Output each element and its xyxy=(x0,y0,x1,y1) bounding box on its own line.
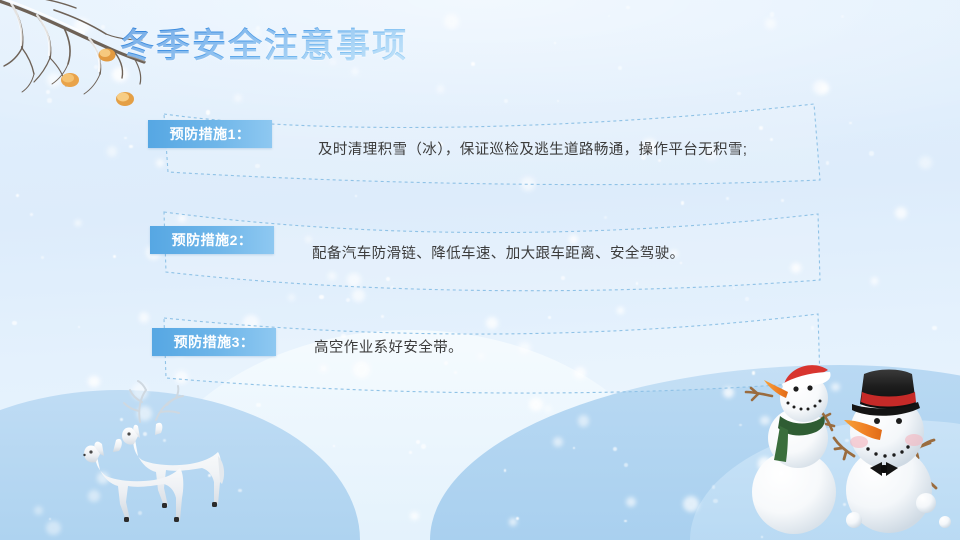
snow-speck xyxy=(16,194,19,197)
snow-speck xyxy=(613,447,617,451)
hill-left xyxy=(0,390,360,540)
snow-speck xyxy=(516,517,519,520)
snow-speck xyxy=(471,62,475,66)
snow-speck xyxy=(745,297,749,301)
snow-speck xyxy=(784,466,789,471)
snow-speck xyxy=(78,326,80,328)
snow-speck xyxy=(421,444,426,449)
page-title: 冬季安全注意事项 xyxy=(120,24,408,68)
snow-speck xyxy=(41,256,45,260)
snowman-right xyxy=(834,370,951,534)
snow-speck xyxy=(444,14,459,29)
snow-speck xyxy=(895,207,907,219)
snow-speck xyxy=(770,12,774,16)
snow-speck xyxy=(726,197,729,200)
snow-speck xyxy=(509,518,517,526)
snow-speck xyxy=(120,418,123,421)
snow-speck xyxy=(346,298,350,302)
snow-speck xyxy=(46,90,50,94)
snow-speck xyxy=(129,145,133,149)
snow-speck xyxy=(88,376,99,387)
snow-speck xyxy=(843,503,846,506)
snow-speck xyxy=(826,161,830,165)
snow-speck xyxy=(112,67,128,83)
snow-speck xyxy=(626,6,630,10)
snow-speck xyxy=(813,80,828,95)
snow-speck xyxy=(74,18,91,35)
snow-speck xyxy=(12,321,17,326)
snow-speck xyxy=(47,73,61,87)
snow-speck xyxy=(137,406,152,421)
snow-speck xyxy=(871,277,879,285)
snow-speck xyxy=(319,295,324,300)
stag xyxy=(122,381,224,508)
snow-speck xyxy=(238,489,241,492)
snow-speck xyxy=(909,438,913,442)
snow-speck xyxy=(437,85,444,92)
snow-speck xyxy=(819,84,828,93)
snow-speck xyxy=(288,294,295,301)
snow-speck xyxy=(107,146,117,156)
measure-label-1: 预防措施1： xyxy=(148,120,272,148)
snow-speck xyxy=(409,451,413,455)
snow-speck xyxy=(355,195,357,197)
snow-speck xyxy=(132,383,149,400)
snow-speck xyxy=(578,415,589,426)
snow-speck xyxy=(624,463,628,467)
doe xyxy=(83,439,183,522)
snow-speck xyxy=(932,326,937,331)
snow-speck xyxy=(124,137,127,140)
snow-speck xyxy=(504,469,507,472)
snow-speck xyxy=(739,424,741,426)
snow-speck xyxy=(138,511,142,515)
snow-speck xyxy=(683,496,699,512)
snow-speck xyxy=(794,431,805,442)
snow-speck xyxy=(34,506,43,515)
snow-speck xyxy=(849,122,852,125)
snow-speck xyxy=(841,15,844,18)
snow-speck xyxy=(845,439,848,442)
snow-speck xyxy=(94,65,98,69)
snow-speck xyxy=(761,536,763,538)
snow-speck xyxy=(608,15,610,17)
snow-speck xyxy=(333,445,335,447)
deer-illustration xyxy=(72,378,242,530)
snow-speck xyxy=(712,485,715,488)
snow-speck xyxy=(758,457,772,471)
snow-speck xyxy=(352,68,359,75)
snow-speck xyxy=(553,437,563,447)
snow-speck xyxy=(49,518,51,520)
hill-far-right xyxy=(690,420,960,540)
snow-speck xyxy=(573,447,575,449)
snow-speck xyxy=(544,405,552,413)
snow-speck xyxy=(416,440,421,445)
slide-canvas: 冬季安全注意事项 预防措施1： 及时清理积雪（冰），保证巡检及逃生道路畅通，操作… xyxy=(0,0,960,540)
snow-speck xyxy=(46,521,61,536)
snow-speck xyxy=(760,416,770,426)
snow-speck xyxy=(88,490,100,502)
snow-speck xyxy=(208,474,211,477)
snow-speck xyxy=(529,398,542,411)
snow-speck xyxy=(410,512,418,520)
measure-label-3: 预防措施3： xyxy=(152,328,276,356)
snow-speck xyxy=(919,156,932,169)
snow-speck xyxy=(618,66,622,70)
snow-speck xyxy=(781,199,784,202)
snow-speck xyxy=(97,472,109,484)
snow-speck xyxy=(47,98,52,103)
snow-speck xyxy=(737,92,740,95)
snow-speck xyxy=(143,432,148,437)
snow-speck xyxy=(139,312,149,322)
snow-speck xyxy=(256,403,260,407)
snow-speck xyxy=(681,201,685,205)
measure-text-3: 高空作业系好安全带。 xyxy=(314,336,463,357)
snow-speck xyxy=(101,25,105,29)
snow-speck xyxy=(713,499,718,504)
measure-text-2: 配备汽车防滑链、降低车速、加大跟车距离、安全驾驶。 xyxy=(312,242,685,263)
snow-speck xyxy=(75,220,81,226)
snow-speck xyxy=(554,42,556,44)
snow-speck xyxy=(765,18,777,30)
snow-speck xyxy=(626,497,636,507)
snow-speck xyxy=(624,520,627,523)
snow-speck xyxy=(30,213,33,216)
snow-speck xyxy=(831,383,839,391)
measure-text-1: 及时清理积雪（冰），保证巡检及逃生道路畅通，操作平台无积雪; xyxy=(318,138,747,159)
snow-speck xyxy=(163,439,166,442)
snow-speck xyxy=(895,387,904,396)
snow-speck xyxy=(869,151,874,156)
measure-label-2: 预防措施2： xyxy=(150,226,274,254)
snow-speck xyxy=(113,255,116,258)
